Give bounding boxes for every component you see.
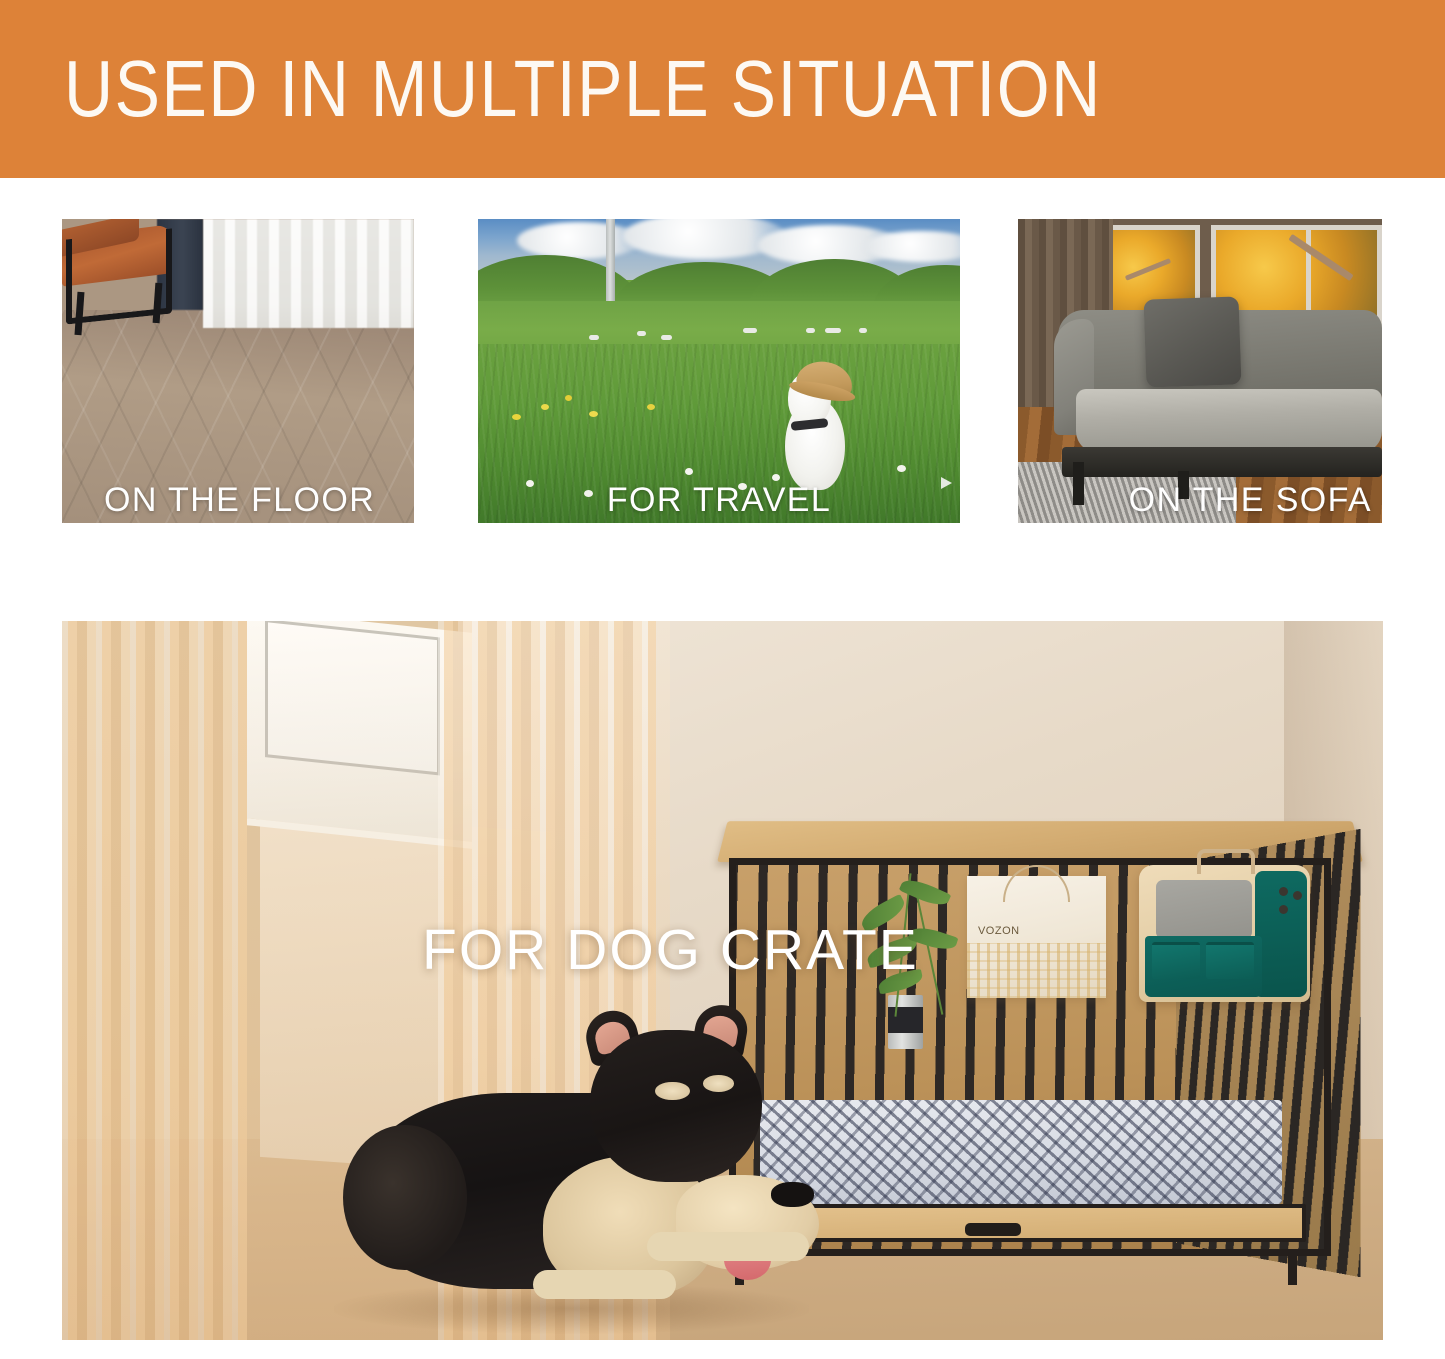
sheep bbox=[825, 328, 841, 333]
carrier-pocket-left bbox=[1152, 942, 1200, 978]
dog-front-paw-right bbox=[647, 1232, 809, 1260]
dog-eyebrow-marking bbox=[655, 1082, 689, 1100]
crate-leg bbox=[1288, 1252, 1297, 1285]
dog-nose bbox=[771, 1182, 814, 1207]
sheep bbox=[859, 328, 867, 333]
carrier-mesh-window bbox=[1156, 880, 1252, 939]
page-title: USED IN MULTIPLE SITUATION bbox=[64, 49, 1102, 129]
thumbnail-caption: ON THE SOFA bbox=[1018, 481, 1382, 520]
yellow-flower bbox=[589, 411, 598, 417]
window-glass bbox=[265, 621, 440, 776]
vozon-gift-bag: VOZON bbox=[967, 876, 1106, 998]
thumbnail-on-the-floor[interactable]: ON THE FLOOR bbox=[62, 219, 414, 523]
sheep bbox=[806, 328, 815, 333]
sofa-seat-cushion bbox=[1076, 389, 1382, 453]
carrier-pocket-right bbox=[1206, 942, 1254, 978]
thumbnail-for-travel[interactable]: FOR TRAVEL bbox=[478, 219, 960, 523]
tree-branch bbox=[1288, 234, 1353, 281]
cloud bbox=[517, 222, 642, 258]
sheep bbox=[743, 328, 757, 333]
page-header-banner: USED IN MULTIPLE SITUATION bbox=[0, 0, 1445, 178]
sofa-scene-image bbox=[1018, 219, 1382, 523]
dog-haunch bbox=[343, 1125, 467, 1271]
hero-image-for-dog-crate[interactable]: VOZON FOR bbox=[62, 621, 1383, 1340]
travel-scene-image bbox=[478, 219, 960, 523]
sofa-base bbox=[1062, 447, 1382, 477]
dog-in-meadow bbox=[777, 359, 854, 493]
gift-bag-pattern bbox=[967, 943, 1106, 998]
cloud bbox=[864, 231, 960, 261]
sheep bbox=[589, 335, 599, 340]
sofa-cushion-pillow bbox=[1144, 296, 1242, 387]
hero-caption: FOR DOG CRATE bbox=[422, 917, 919, 983]
thumbnail-caption: ON THE FLOOR bbox=[62, 481, 414, 520]
dog-head bbox=[590, 1030, 761, 1182]
sheep bbox=[661, 335, 672, 340]
carrier-top-handle bbox=[1197, 849, 1255, 874]
thumbnail-on-the-sofa[interactable]: ON THE SOFA bbox=[1018, 219, 1382, 523]
floor-scene-image bbox=[62, 219, 414, 523]
gift-bag-brand-label: VOZON bbox=[978, 925, 1020, 937]
malamute-dog bbox=[353, 1024, 829, 1340]
pet-carrier-backpack bbox=[1139, 865, 1311, 1002]
dog-front-paw-left bbox=[533, 1270, 676, 1298]
crate-door-handle[interactable] bbox=[965, 1223, 1021, 1235]
crate-bed-pad bbox=[760, 1100, 1282, 1204]
sheer-curtain-left bbox=[62, 621, 247, 1340]
plant-stem bbox=[915, 888, 944, 1015]
carrier-front-panel bbox=[1145, 936, 1262, 996]
thumbnail-caption: FOR TRAVEL bbox=[478, 481, 960, 520]
tree-branch bbox=[1125, 259, 1171, 281]
situation-thumbnail-row: ON THE FLOOR bbox=[0, 219, 1445, 523]
distant-tower bbox=[606, 219, 616, 301]
dog-eyebrow-marking bbox=[703, 1075, 734, 1092]
yellow-flower bbox=[512, 414, 521, 420]
sheer-curtain bbox=[203, 219, 414, 328]
